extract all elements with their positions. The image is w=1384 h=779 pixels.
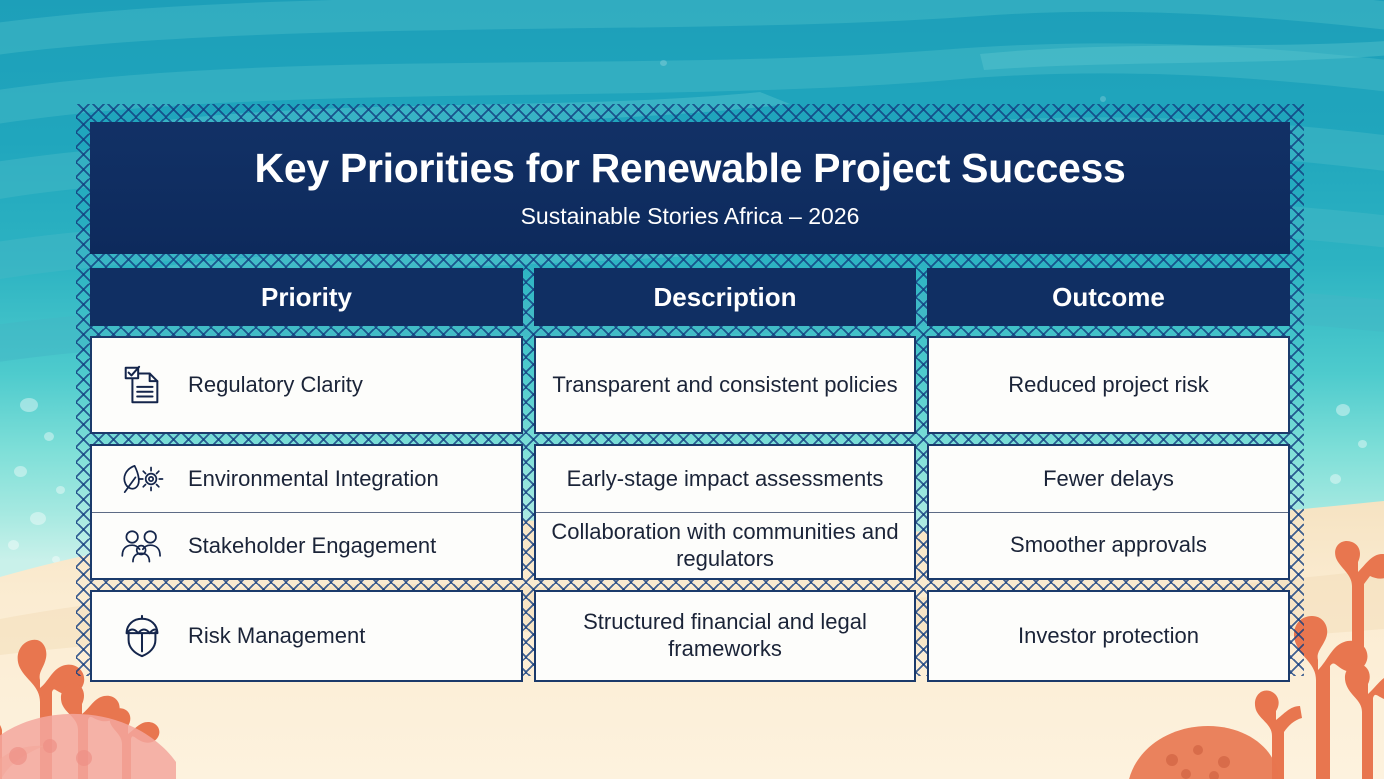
outcome-card-1[interactable]: Reduced project risk (927, 336, 1290, 434)
title-bar: Key Priorities for Renewable Project Suc… (90, 122, 1290, 254)
umbrella-shield-icon (116, 610, 168, 662)
priority-label: Risk Management (188, 623, 365, 649)
outcome-cell: Fewer delays (929, 446, 1288, 512)
reef-rock-right (1128, 712, 1278, 779)
people-group-icon (116, 520, 168, 572)
description-column: Transparent and consistent policies Earl… (534, 336, 916, 682)
table-row[interactable]: Environmental Integration (92, 446, 521, 512)
column-header-priority: Priority (90, 268, 523, 326)
priority-label: Environmental Integration (188, 466, 439, 492)
priority-card-1[interactable]: Regulatory Clarity (90, 336, 523, 434)
priority-column: Regulatory Clarity (90, 336, 523, 682)
table-body: Regulatory Clarity (90, 336, 1290, 682)
slide-canvas: Key Priorities for Renewable Project Suc… (0, 0, 1384, 779)
outcome-column: Reduced project risk Fewer delays Smooth… (927, 336, 1290, 682)
description-cell: Collaboration with communities and regul… (536, 512, 914, 578)
column-header-outcome: Outcome (927, 268, 1290, 326)
reef-rock-left (0, 700, 176, 779)
outcome-card-3[interactable]: Investor protection (927, 590, 1290, 682)
table-row[interactable]: Risk Management (92, 592, 521, 680)
priorities-table: Priority Description Outcome (90, 268, 1290, 682)
description-card-3[interactable]: Structured financial and legal framework… (534, 590, 916, 682)
priority-card-3[interactable]: Risk Management (90, 590, 523, 682)
table-row[interactable]: Stakeholder Engagement (92, 512, 521, 578)
document-edit-icon (116, 359, 168, 411)
priority-label: Stakeholder Engagement (188, 533, 436, 559)
outcome-cell: Smoother approvals (929, 512, 1288, 578)
page-title: Key Priorities for Renewable Project Suc… (255, 146, 1126, 192)
column-header-description: Description (534, 268, 916, 326)
coral-right-far (1318, 520, 1384, 660)
leaf-gear-icon (116, 453, 168, 505)
outcome-cell: Investor protection (929, 592, 1288, 680)
priority-label: Regulatory Clarity (188, 372, 363, 398)
priority-card-2[interactable]: Environmental Integration (90, 444, 523, 580)
description-card-1[interactable]: Transparent and consistent policies (534, 336, 916, 434)
table-header-row: Priority Description Outcome (90, 268, 1290, 326)
description-cell: Structured financial and legal framework… (536, 592, 914, 680)
description-card-2[interactable]: Early-stage impact assessments Collabora… (534, 444, 916, 580)
description-cell: Transparent and consistent policies (536, 338, 914, 432)
description-cell: Early-stage impact assessments (536, 446, 914, 512)
outcome-cell: Reduced project risk (929, 338, 1288, 432)
page-subtitle: Sustainable Stories Africa – 2026 (521, 203, 860, 230)
table-row[interactable]: Regulatory Clarity (92, 338, 521, 432)
outcome-card-2[interactable]: Fewer delays Smoother approvals (927, 444, 1290, 580)
